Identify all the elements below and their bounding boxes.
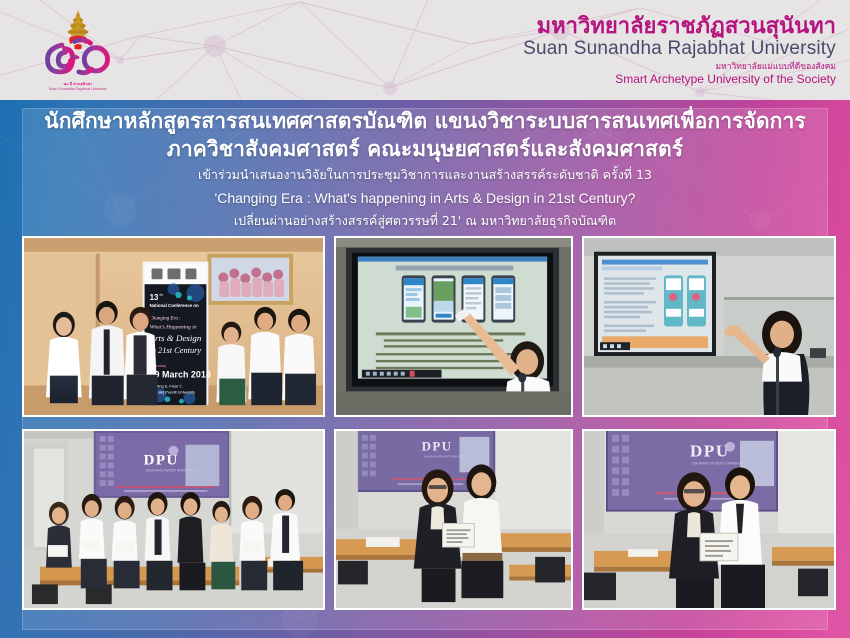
svg-text:DPU: DPU <box>690 442 730 461</box>
university-name-th: มหาวิทยาลัยราชภัฏสวนสุนันทา <box>523 15 836 38</box>
photo-presentation-pointing-screen-alt: นักศึกษาชี้ไปที่จอนำเสนอในห้องบรรยาย <box>584 415 585 416</box>
logo-caption: ๘๐ ปี สวนสุนันทา Suan Sunandha Rajabhat … <box>49 82 107 91</box>
svg-text:DHURAKIJ PUNDIT UNIVERSITY: DHURAKIJ PUNDIT UNIVERSITY <box>692 461 747 465</box>
banner-title-line-2: ภาควิชาสังคมศาสตร์ คณะมนุษยศาสตร์และสังค… <box>0 136 850 164</box>
svg-text:Arts & Design: Arts & Design <box>149 333 202 343</box>
svg-text:DPU: DPU <box>422 440 453 454</box>
photo-group-with-conference-banner-image: 13 th National Conference on Changing Er… <box>24 238 323 415</box>
banner-subtitle-line-3: เปลี่ยนผ่านอย่างสร้างสรรค์สู่ศตวรรษที่ 2… <box>0 212 850 231</box>
photo-certificate-two-women-alt: อาจารย์มอบเกียรติบัตรให้นักศึกษาหญิง <box>336 608 337 609</box>
ssru-80th-anniversary-logo-icon <box>35 9 121 81</box>
photo-presentation-pointing-screen-image <box>584 238 834 415</box>
activity-banner-page: ๘๐ ปี สวนสุนันทา Suan Sunandha Rajabhat … <box>0 0 850 638</box>
university-name-en: Suan Sunandha Rajabhat University <box>523 39 836 59</box>
svg-text:Changing Era :: Changing Era : <box>150 317 182 322</box>
photo-certificate-man-receiving-image: DPU DHURAKIJ PUNDIT UNIVERSITY <box>584 431 834 608</box>
svg-text:29 March 2018: 29 March 2018 <box>150 370 211 380</box>
svg-text:th: th <box>160 292 163 297</box>
photo-group-certificates-dpu[interactable]: DPU DHURAKIJ PUNDIT UNIVERSITY <box>22 429 325 610</box>
banner-subtitle-line-1: เข้าร่วมนำเสนองานวิจัยในการประชุมวิชาการ… <box>0 166 850 185</box>
university-logo[interactable]: ๘๐ ปี สวนสุนันทา Suan Sunandha Rajabhat … <box>22 0 134 100</box>
svg-text:What's Happening in: What's Happening in <box>150 324 197 330</box>
university-tagline-en: Smart Archetype University of the Societ… <box>523 73 836 86</box>
banner-title-line-1: นักศึกษาหลักสูตรสารสนเทศศาสตรบัณฑิต แขนง… <box>0 108 850 136</box>
logo-caption-en: Suan Sunandha Rajabhat University <box>49 87 107 91</box>
photo-group-certificates-dpu-alt: ภาพหมู่ผู้รับเกียรติบัตรหน้าจอ DPU <box>24 608 25 609</box>
photo-group-with-conference-banner-alt: กลุ่มนักศึกษาถ่ายภาพร่วมกับป้ายงานประชุม… <box>24 415 25 416</box>
photo-gallery-grid: 13 th National Conference on Changing Er… <box>22 236 828 610</box>
banner-subtitle-line-2: 'Changing Era : What's happening in Arts… <box>0 188 850 209</box>
university-tagline-th: มหาวิทยาลัยแม่แบบที่ดีของสังคม <box>523 63 836 72</box>
site-header: ๘๐ ปี สวนสุนันทา Suan Sunandha Rajabhat … <box>0 0 850 100</box>
svg-text:in 21st Century: in 21st Century <box>150 346 202 355</box>
photo-certificate-two-women-image: DPU DHURAKIJ PUNDIT UNIVERSITY <box>336 431 571 608</box>
banner-title-block: นักศึกษาหลักสูตรสารสนเทศศาสตรบัณฑิต แขนง… <box>0 108 850 231</box>
photo-certificate-man-receiving[interactable]: DPU DHURAKIJ PUNDIT UNIVERSITY <box>582 429 836 610</box>
photo-certificate-man-receiving-alt: อาจารย์มอบเกียรติบัตรให้นักศึกษาชาย <box>584 608 585 609</box>
photo-certificate-two-women[interactable]: DPU DHURAKIJ PUNDIT UNIVERSITY <box>334 429 573 610</box>
photo-group-with-conference-banner[interactable]: 13 th National Conference on Changing Er… <box>22 236 325 417</box>
photo-presentation-pointing-screen[interactable]: นักศึกษาชี้ไปที่จอนำเสนอในห้องบรรยาย <box>582 236 836 417</box>
photo-presentation-mobile-app-slides-image <box>336 238 571 415</box>
photo-group-certificates-dpu-image: DPU DHURAKIJ PUNDIT UNIVERSITY <box>24 431 323 608</box>
photo-presentation-mobile-app-slides-alt: นักศึกษานำเสนอผลงานหน้าจอโปรเจคเตอร์แสดง… <box>336 415 337 416</box>
photo-presentation-mobile-app-slides[interactable]: นักศึกษานำเสนอผลงานหน้าจอโปรเจคเตอร์แสดง… <box>334 236 573 417</box>
university-title-block: มหาวิทยาลัยราชภัฏสวนสุนันทา Suan Sunandh… <box>523 15 836 86</box>
svg-text:National Conference on: National Conference on <box>150 303 199 308</box>
svg-text:13: 13 <box>150 293 159 302</box>
